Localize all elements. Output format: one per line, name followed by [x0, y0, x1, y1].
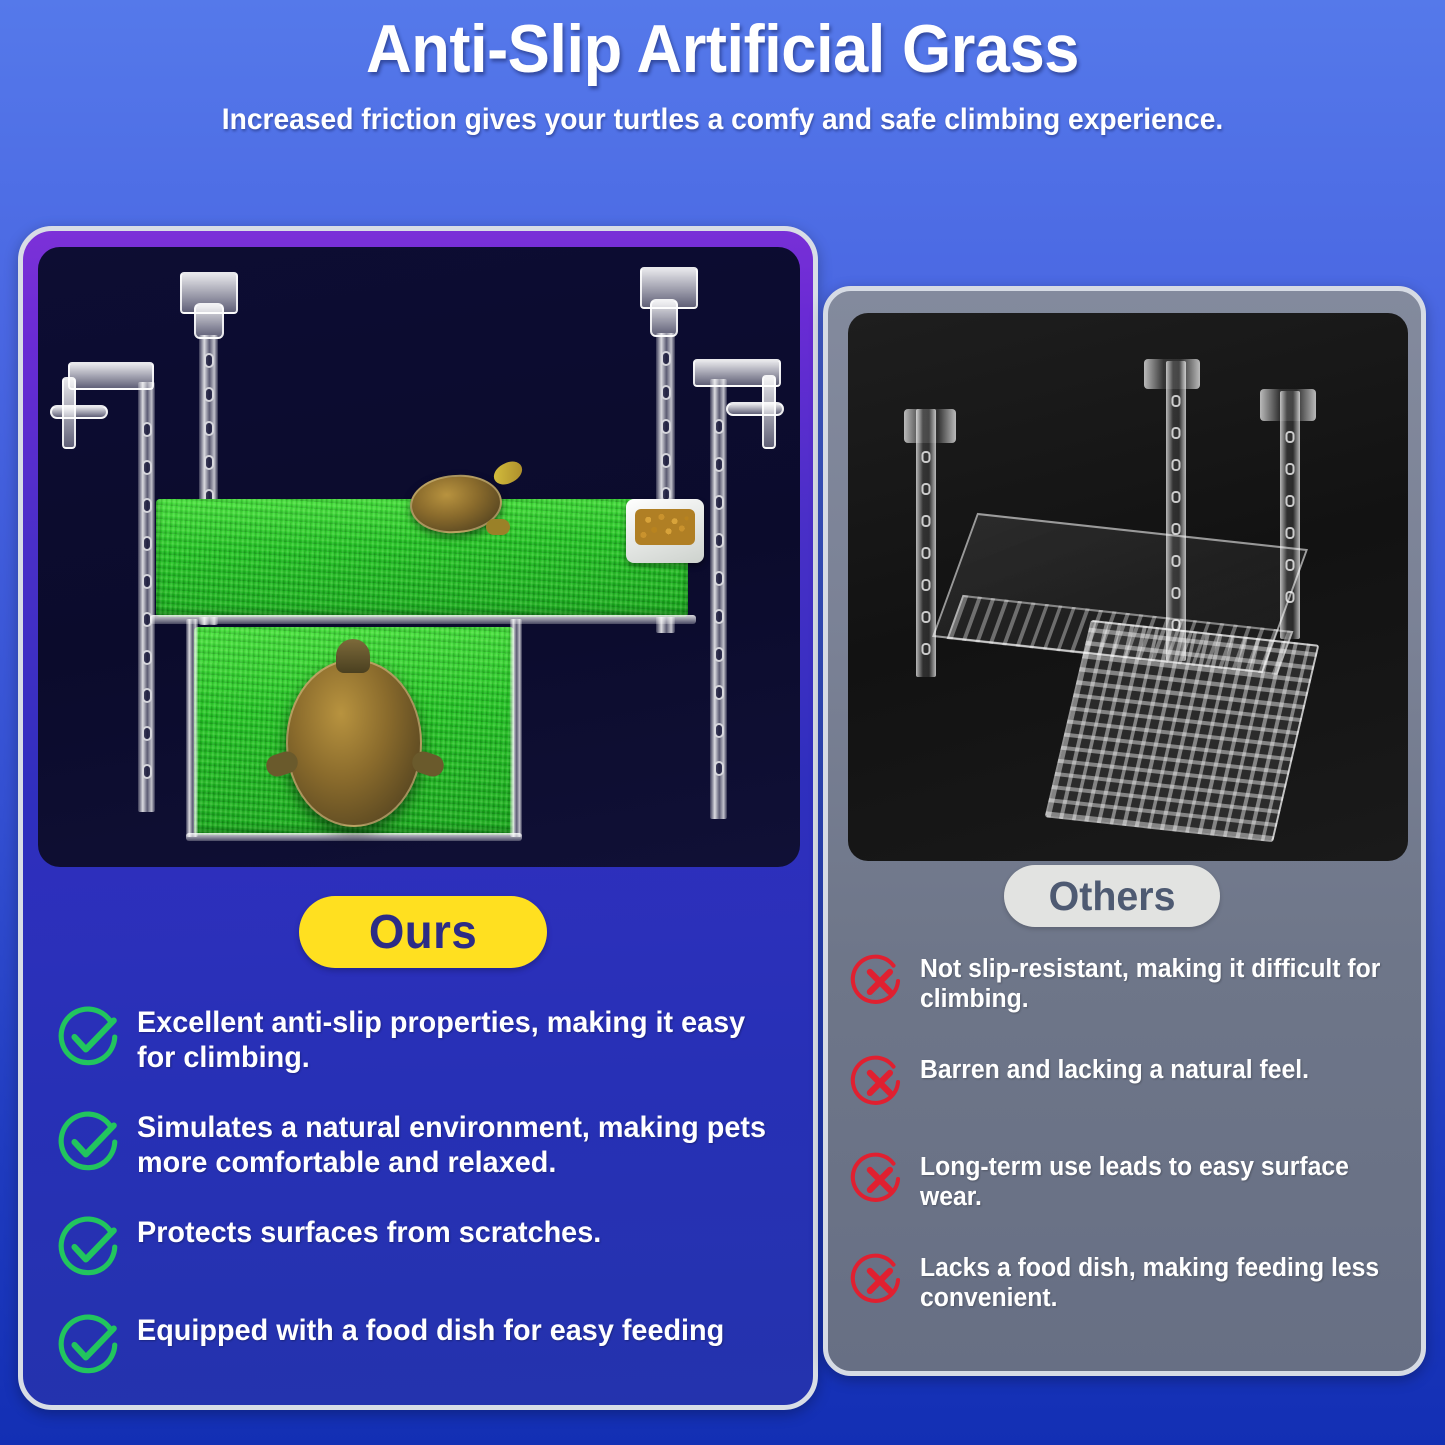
lower-leg-left — [186, 619, 198, 837]
support-post-left-outer — [138, 382, 155, 812]
list-item-label: Equipped with a food dish for easy feedi… — [137, 1309, 724, 1348]
list-item-label: Long-term use leads to easy surface wear… — [920, 1149, 1405, 1212]
clamp-side-left — [62, 377, 76, 449]
comparison-cards: Ours Excellent anti-slip properties, mak… — [0, 0, 1445, 1445]
list-item-label: Simulates a natural environment, making … — [137, 1106, 771, 1181]
list-item: Lacks a food dish, making feeding less c… — [850, 1250, 1420, 1313]
food-pellets — [635, 509, 694, 545]
check-circle-icon — [57, 1003, 123, 1069]
ours-benefit-list: Excellent anti-slip properties, making i… — [57, 1001, 797, 1407]
turtle-lower — [286, 659, 422, 827]
others-badge: Others — [1004, 865, 1220, 927]
others-bracket-middle — [1144, 359, 1200, 389]
check-circle-icon — [57, 1108, 123, 1174]
cross-circle-icon — [850, 1053, 908, 1111]
food-dish — [626, 499, 704, 563]
cross-circle-icon — [850, 1251, 908, 1309]
page-title: Anti-Slip Artificial Grass — [51, 14, 1395, 85]
list-item-label: Excellent anti-slip properties, making i… — [137, 1001, 771, 1076]
others-drawback-list: Not slip-resistant, making it difficult … — [850, 951, 1420, 1351]
check-circle-icon — [57, 1311, 123, 1377]
list-item-label: Protects surfaces from scratches. — [137, 1211, 601, 1250]
list-item-label: Barren and lacking a natural feel. — [920, 1052, 1309, 1085]
others-badge-label: Others — [1049, 873, 1176, 920]
support-post-right-outer — [710, 379, 727, 819]
bracket-lock-right-inner — [650, 299, 678, 337]
lower-leg-right — [510, 619, 522, 837]
list-item-label: Not slip-resistant, making it difficult … — [920, 951, 1405, 1014]
ours-badge-label: Ours — [369, 905, 477, 960]
others-bracket-left — [904, 409, 956, 443]
header: Anti-Slip Artificial Grass Increased fri… — [0, 0, 1445, 137]
list-item: Excellent anti-slip properties, making i… — [57, 1001, 797, 1076]
others-bracket-right — [1260, 389, 1316, 421]
platform-shelf-lower — [186, 833, 522, 841]
ours-badge: Ours — [299, 896, 547, 968]
others-card: Others Not slip-resistant, making it dif… — [823, 286, 1426, 1376]
ours-product-photo — [38, 247, 800, 867]
page-subtitle: Increased friction gives your turtles a … — [43, 103, 1401, 137]
turtle-lower-head — [336, 639, 370, 673]
list-item: Equipped with a food dish for easy feedi… — [57, 1309, 797, 1377]
platform-shelf-upper — [150, 615, 696, 624]
others-product-photo — [848, 313, 1408, 861]
list-item: Protects surfaces from scratches. — [57, 1211, 797, 1279]
clamp-side-right — [762, 375, 776, 449]
ours-card: Ours Excellent anti-slip properties, mak… — [18, 226, 818, 1410]
check-circle-icon — [57, 1213, 123, 1279]
others-perforated-ramp — [1045, 620, 1320, 842]
list-item: Simulates a natural environment, making … — [57, 1106, 797, 1181]
cross-circle-icon — [850, 952, 908, 1010]
list-item: Not slip-resistant, making it difficult … — [850, 951, 1420, 1014]
list-item: Long-term use leads to easy surface wear… — [850, 1149, 1420, 1212]
list-item-label: Lacks a food dish, making feeding less c… — [920, 1250, 1405, 1313]
cross-circle-icon — [850, 1150, 908, 1208]
list-item: Barren and lacking a natural feel. — [850, 1052, 1420, 1111]
turtle-upper-leg — [486, 519, 510, 535]
turtle-upper-head — [490, 457, 526, 489]
clamp-screw-left — [50, 405, 108, 419]
bracket-lock-left-inner — [194, 303, 224, 339]
